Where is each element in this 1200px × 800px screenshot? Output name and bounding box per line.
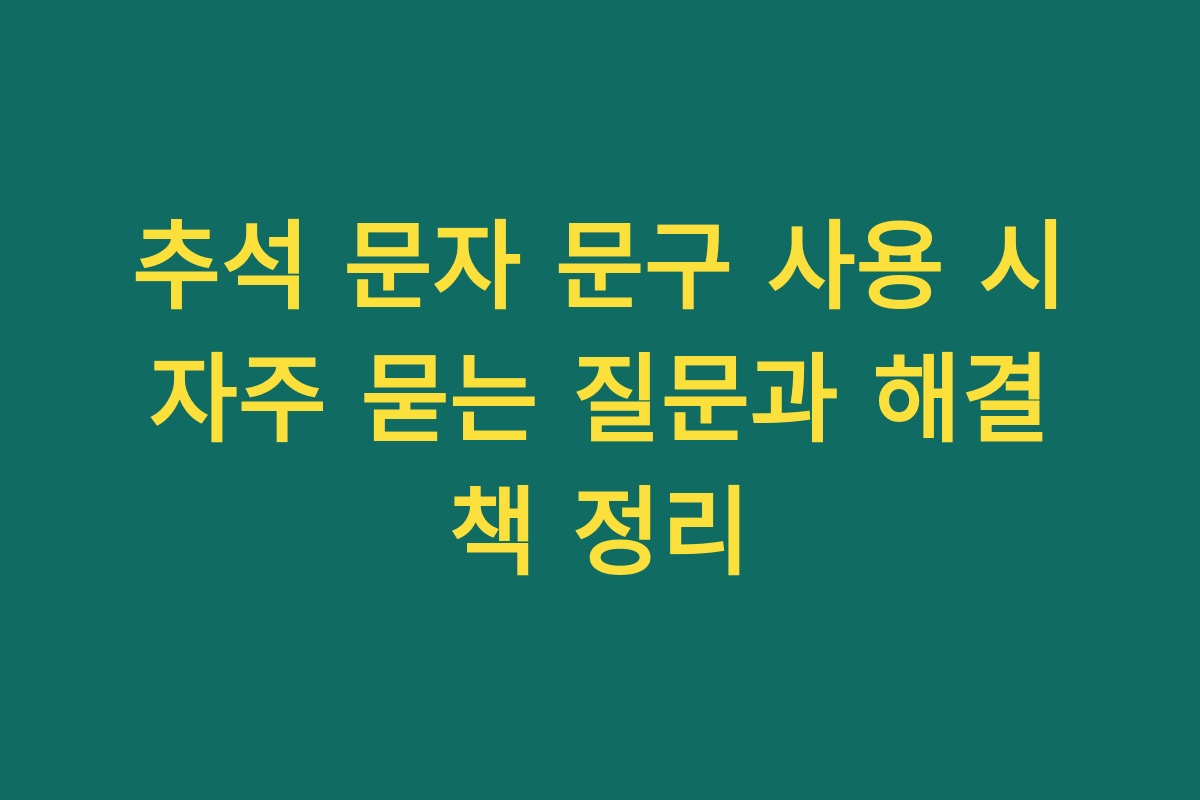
headline-line-3: 책 정리: [80, 467, 1120, 600]
headline-line-2: 자주 묻는 질문과 해결: [80, 334, 1120, 467]
page-title: 추석 문자 문구 사용 시 자주 묻는 질문과 해결 책 정리: [80, 201, 1120, 600]
title-card-canvas: 추석 문자 문구 사용 시 자주 묻는 질문과 해결 책 정리: [0, 0, 1200, 800]
headline-line-1: 추석 문자 문구 사용 시: [80, 201, 1120, 334]
